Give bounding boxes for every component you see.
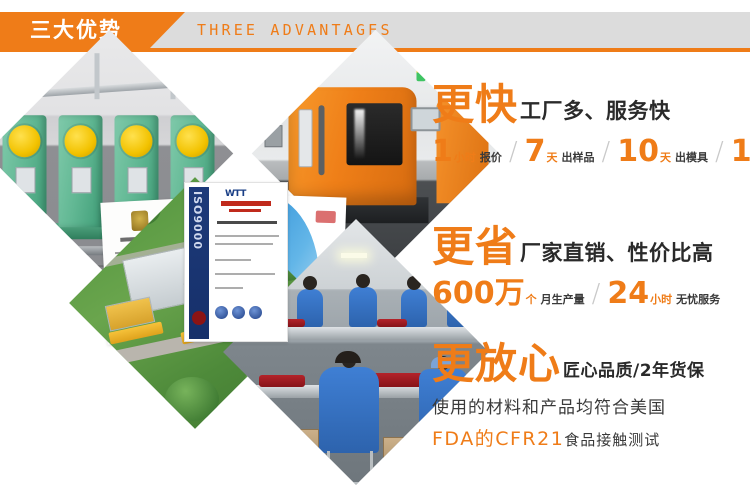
metric-number: 10: [617, 139, 659, 165]
press-overhead-beam: [0, 76, 233, 100]
metric-desc: 月生产量: [541, 294, 585, 306]
metric-unit: 天: [660, 152, 671, 164]
metric-item: 1 小时 报价: [432, 139, 502, 165]
metric-desc: 报价: [480, 152, 502, 164]
metric-unit: 天: [547, 152, 558, 164]
advantage-title: 更快: [432, 86, 518, 125]
metric-separator: /: [592, 284, 601, 307]
advantage-subtitle: 工厂多、服务快: [520, 101, 671, 125]
metric-separator: /: [509, 142, 518, 165]
metric-desc: 出样品: [562, 152, 595, 164]
metric-item: 24 小时 无忧服务: [607, 281, 720, 307]
photo-collage: ISO9000 WTT: [0, 52, 430, 492]
advantage-subtitle: 匠心品质/2年货保: [563, 363, 705, 384]
advantage-block-faster: 更快 工厂多、服务快 1 小时 报价 / 7 天 出样品 / 10 天 出模具 …: [432, 86, 750, 164]
metric-item: 10 天 出模具: [617, 139, 708, 165]
advantage-headline: 更省 厂家直销、性价比高: [432, 228, 750, 267]
certificate-iso9000: ISO9000 WTT: [184, 182, 288, 342]
metric-desc: 出模具: [675, 152, 708, 164]
iso-label: ISO9000: [191, 191, 204, 196]
metric-separator: /: [602, 142, 611, 165]
advantage-headline: 更放心 匠心品质/2年货保: [432, 345, 750, 384]
metric-number: 7: [525, 139, 546, 165]
metric-item: 15 天 出大货: [731, 139, 750, 165]
advantage-paragraph-line1: 使用的材料和产品均符合美国: [432, 396, 750, 422]
metric-item: 600万 个 月生产量: [432, 281, 585, 307]
signal-tower-icon: [417, 55, 426, 81]
advantage-block-reliable: 更放心 匠心品质/2年货保 使用的材料和产品均符合美国 FDA的CFR21 食品…: [432, 345, 750, 454]
metric-unit: 个: [526, 294, 537, 306]
metric-number: 24: [607, 281, 649, 307]
paragraph-highlight: FDA的CFR21: [432, 425, 564, 454]
advantage-subtitle: 厂家直销、性价比高: [520, 243, 714, 267]
header-badge: 三大优势: [0, 12, 185, 48]
metric-unit: 小时: [454, 152, 476, 164]
advantage-title: 更放心: [432, 345, 561, 384]
metric-item: 7 天 出样品: [525, 139, 595, 165]
metric-number: 600万: [432, 281, 525, 307]
metric-number: 1: [432, 139, 453, 165]
certificate-brand-mark: WTT: [225, 189, 246, 199]
paragraph-tail: 食品接触测试: [564, 429, 660, 452]
advantage-title: 更省: [432, 228, 518, 267]
metric-desc: 无忧服务: [676, 294, 720, 306]
advantage-paragraph-line2: FDA的CFR21 食品接触测试: [432, 425, 750, 454]
advantage-metrics: 600万 个 月生产量 / 24 小时 无忧服务: [432, 281, 750, 307]
advantage-headline: 更快 工厂多、服务快: [432, 86, 750, 125]
advantage-block-cheaper: 更省 厂家直销、性价比高 600万 个 月生产量 / 24 小时 无忧服务: [432, 228, 750, 306]
metric-separator: /: [715, 142, 724, 165]
advantages-content: 更快 工厂多、服务快 1 小时 报价 / 7 天 出样品 / 10 天 出模具 …: [432, 60, 750, 490]
metric-number: 15: [731, 139, 750, 165]
metric-unit: 小时: [650, 294, 672, 306]
advantage-metrics: 1 小时 报价 / 7 天 出样品 / 10 天 出模具 / 15 天 出大货: [432, 139, 750, 165]
